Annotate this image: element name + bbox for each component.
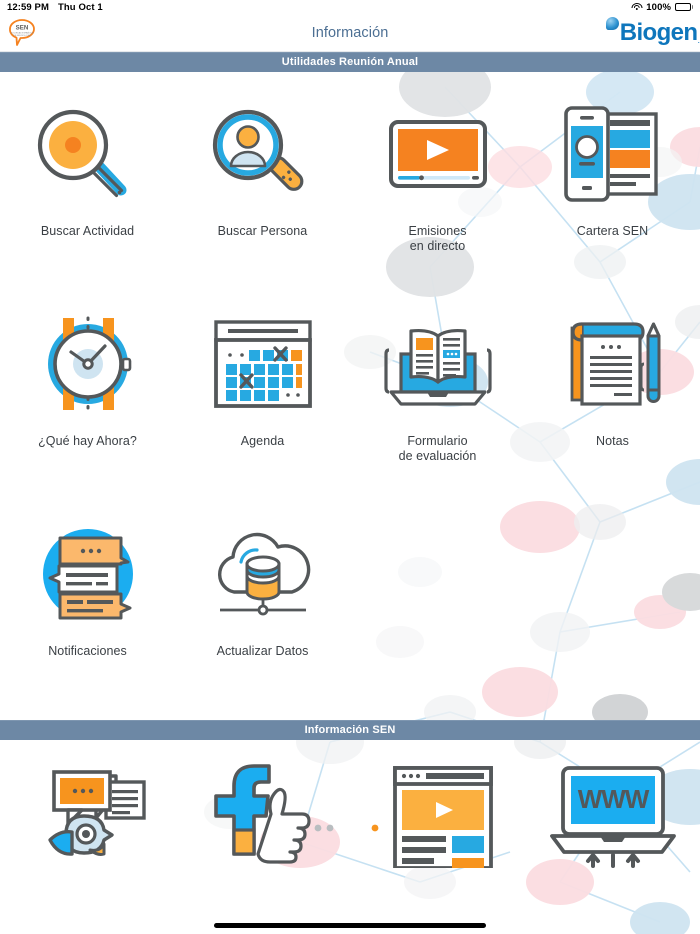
tile-emisiones-en-directo[interactable]: Emisionesen directo — [350, 90, 525, 300]
tile-actualizar-datos[interactable]: Actualizar Datos — [175, 510, 350, 720]
main-content: Buscar Actividad — [0, 72, 700, 720]
chat-bubbles-icon — [28, 520, 148, 628]
phone-tablet-icon — [553, 100, 673, 208]
tile-label: ¿Qué hay Ahora? — [38, 434, 137, 449]
svg-text:SEN: SEN — [16, 25, 29, 32]
notepad-pencil-icon — [553, 310, 673, 418]
tile-label: Notas — [596, 434, 629, 449]
browser-video-icon — [363, 758, 513, 868]
calendar-icon — [203, 310, 323, 418]
cloud-database-icon — [203, 520, 323, 628]
tile-facebook[interactable] — [175, 740, 350, 868]
tile-notas[interactable]: Notas — [525, 300, 700, 510]
battery-full-icon — [675, 3, 693, 11]
tile-que-hay-ahora[interactable]: ¿Qué hay Ahora? — [0, 300, 175, 510]
laptop-book-icon — [378, 310, 498, 418]
tile-label: Buscar Actividad — [41, 224, 134, 239]
facebook-thumbsup-icon — [188, 758, 338, 868]
tile-buscar-actividad[interactable]: Buscar Actividad — [0, 90, 175, 300]
home-indicator[interactable] — [214, 923, 486, 928]
informacion-sen-strip: WWW — [0, 740, 700, 868]
tile-label: Actualizar Datos — [217, 644, 309, 659]
section-header-utilidades-label: Utilidades Reunión Anual — [282, 56, 418, 68]
section-header-informacion-sen-label: Información SEN — [305, 724, 396, 736]
magnifier-activity-icon — [28, 100, 148, 208]
tile-twitter[interactable] — [0, 740, 175, 868]
tile-label: Emisionesen directo — [408, 224, 466, 254]
status-bar: 12:59 PM Thu Oct 1 100% — [0, 0, 700, 14]
tile-notificaciones[interactable]: Notificaciones — [0, 510, 175, 720]
status-bar-right: 100% — [631, 2, 693, 13]
video-player-icon — [378, 100, 498, 208]
status-time: 12:59 PM — [7, 2, 49, 13]
tile-label: Buscar Persona — [218, 224, 308, 239]
tile-formulario-de-evaluacion[interactable]: Formulariode evaluación — [350, 300, 525, 510]
biogen-logo: Biogen . — [606, 18, 700, 48]
wristwatch-icon — [28, 310, 148, 418]
svg-text:DE NEUROLOGÍA: DE NEUROLOGÍA — [13, 34, 31, 37]
biogen-wordmark: Biogen — [620, 21, 698, 45]
section-header-utilidades: Utilidades Reunión Anual — [0, 52, 700, 72]
tile-videos[interactable] — [350, 740, 525, 868]
tile-label: Agenda — [241, 434, 284, 449]
tile-label: Cartera SEN — [577, 224, 648, 239]
status-bar-left: 12:59 PM Thu Oct 1 — [7, 2, 103, 13]
nav-bar: SEN SOCIEDAD ESPAÑOLA DE NEUROLOGÍA Info… — [0, 14, 700, 52]
utilities-grid: Buscar Actividad — [0, 72, 700, 720]
svg-text:WWW: WWW — [577, 784, 649, 814]
tile-buscar-persona[interactable]: Buscar Persona — [175, 90, 350, 300]
twitter-bird-chat-icon — [28, 758, 148, 868]
section-header-informacion-sen: Información SEN — [0, 720, 700, 740]
wifi-icon — [631, 3, 642, 12]
status-date: Thu Oct 1 — [58, 2, 103, 13]
biogen-dot-icon — [606, 17, 619, 30]
battery-percent-label: 100% — [646, 2, 671, 13]
magnifier-person-icon — [203, 100, 323, 208]
tile-agenda[interactable]: Agenda — [175, 300, 350, 510]
page-title: Información — [312, 25, 389, 41]
app-root: 12:59 PM Thu Oct 1 100% SEN SOCIEDAD ESP… — [0, 0, 700, 934]
sen-logo[interactable]: SEN SOCIEDAD ESPAÑOLA DE NEUROLOGÍA — [6, 16, 40, 50]
tile-label: Notificaciones — [48, 644, 127, 659]
laptop-www-icon: WWW — [538, 758, 688, 868]
tile-web[interactable]: WWW — [525, 740, 700, 868]
tile-cartera-sen[interactable]: Cartera SEN — [525, 90, 700, 300]
tile-label: Formulariode evaluación — [399, 434, 477, 464]
